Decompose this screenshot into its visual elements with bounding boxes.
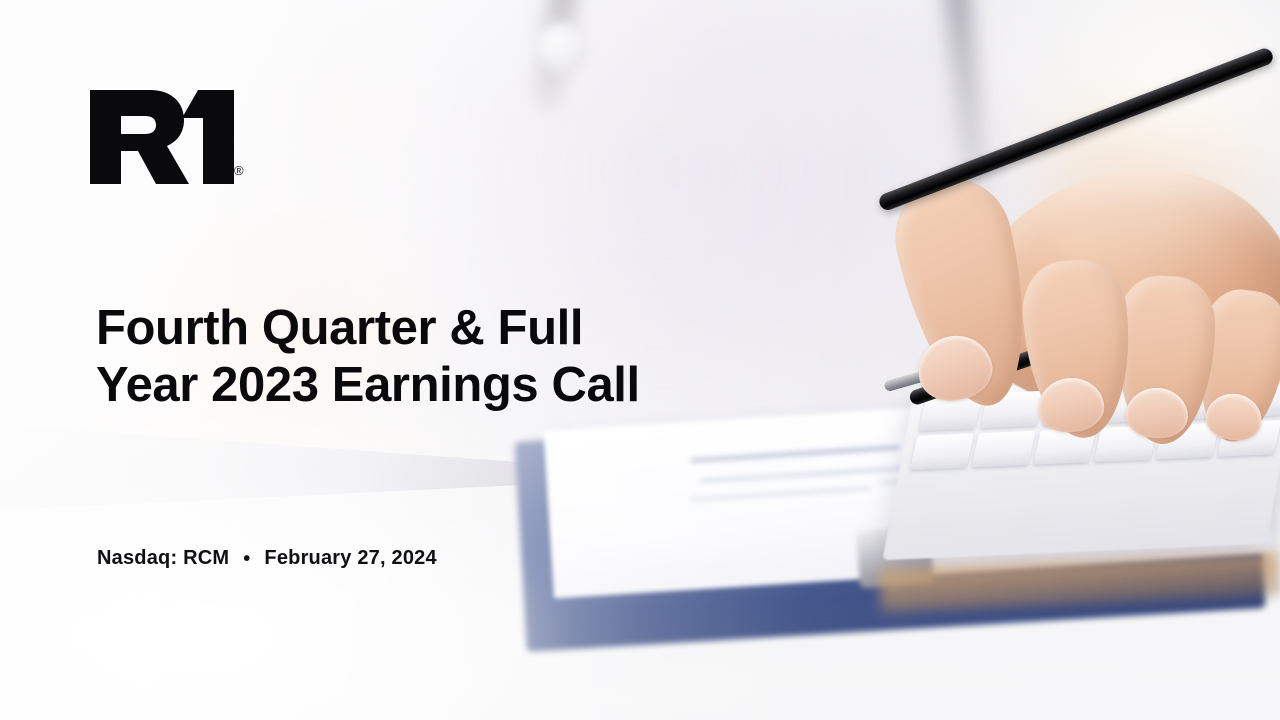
presentation-date: February 27, 2024 bbox=[264, 547, 436, 570]
ticker-symbol: Nasdaq: RCM bbox=[97, 547, 229, 570]
calculator-key bbox=[971, 430, 1035, 467]
r1-wordmark-icon bbox=[88, 88, 248, 184]
r1-logo: ® bbox=[88, 88, 248, 184]
page-title: Fourth Quarter & Full Year 2023 Earnings… bbox=[96, 300, 640, 415]
bullet-separator-icon: • bbox=[229, 549, 264, 569]
subtitle: Nasdaq: RCM • February 27, 2024 bbox=[97, 547, 437, 570]
calculator-key bbox=[910, 433, 974, 470]
title-slide: ® Fourth Quarter & Full Year 2023 Earnin… bbox=[0, 0, 1280, 720]
registered-trademark-icon: ® bbox=[234, 164, 244, 177]
